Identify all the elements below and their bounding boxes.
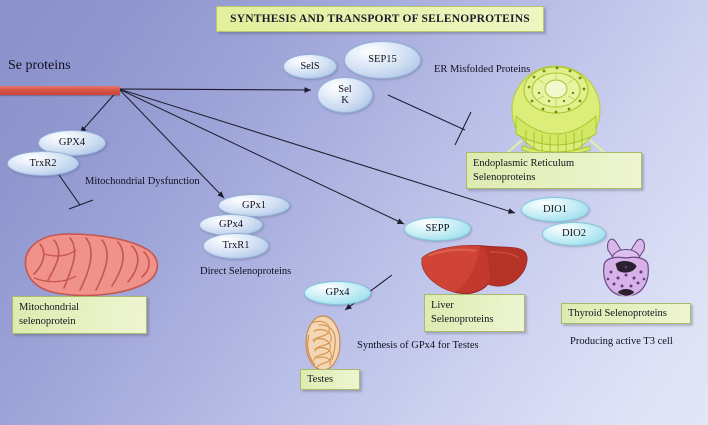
annotation-mitochondrial-dysfunction: Mitochondrial Dysfunction [85,176,200,187]
box-er-line1: Endoplasmic Reticulum [473,157,635,171]
box-testes-line1: Testes [307,373,333,387]
annotation-producing-t3: Producing active T3 cell [570,336,673,347]
box-liver-selenoproteins: Liver Selenoproteins [424,294,525,332]
inhibition-line-er [388,95,465,130]
box-mito-line1: Mitochondrial [19,301,140,315]
node-selk[interactable]: Sel K [317,77,373,113]
mitochondrion [25,234,157,296]
endoplasmic-reticulum-cell [506,66,606,156]
box-mito-line2: selenoprotein [19,315,140,329]
node-selk-line1: Sel [338,84,351,95]
thyroid-gland [604,239,649,296]
annotation-er-misfolded: ER Misfolded Proteins [434,64,530,75]
testis-organ [306,316,340,370]
diagram-canvas: SYNTHESIS AND TRANSPORT OF SELENOPROTEIN… [0,0,708,425]
inhibition-bar-er [455,112,471,145]
node-sep15[interactable]: SEP15 [344,41,421,79]
arrow-to-selk [119,89,311,90]
node-trxr2[interactable]: TrxR2 [7,151,79,176]
node-sepp[interactable]: SEPP [404,217,471,241]
annotation-direct-selenoproteins: Direct Selenoproteins [200,266,291,277]
box-endoplasmic-reticulum: Endoplasmic Reticulum Selenoproteins [466,152,642,189]
box-er-line2: Selenoproteins [473,171,635,185]
box-testes: Testes [300,369,360,390]
se-proteins-label: Se proteins [8,58,71,74]
arrow-to-dio1 [119,89,515,213]
inhibition-line-mitochondria [57,172,80,205]
se-proteins-bar [0,86,120,95]
page-title: SYNTHESIS AND TRANSPORT OF SELENOPROTEIN… [216,6,544,32]
box-thyroid-selenoproteins: Thyroid Selenoproteins [561,303,691,324]
node-trxr1[interactable]: TrxR1 [203,233,269,259]
node-dio2[interactable]: DIO2 [542,222,606,246]
box-thyroid-line1: Thyroid Selenoproteins [568,307,667,321]
annotation-synthesis-gpx4-testes: Synthesis of GPx4 for Testes [357,340,479,351]
box-liver-line1: Liver [431,299,518,313]
inhibition-bar-mitochondria [69,200,93,209]
box-mitochondrial-selenoprotein: Mitochondrial selenoprotein [12,296,147,334]
node-selk-line2: K [341,95,349,106]
node-sels[interactable]: SelS [283,54,337,79]
box-liver-line2: Selenoproteins [431,313,518,327]
liver-organ [422,246,527,294]
node-dio1[interactable]: DIO1 [521,197,589,222]
node-gpx4-testes[interactable]: GPx4 [304,281,371,305]
arrow-to-gpx4-mito [80,89,119,133]
